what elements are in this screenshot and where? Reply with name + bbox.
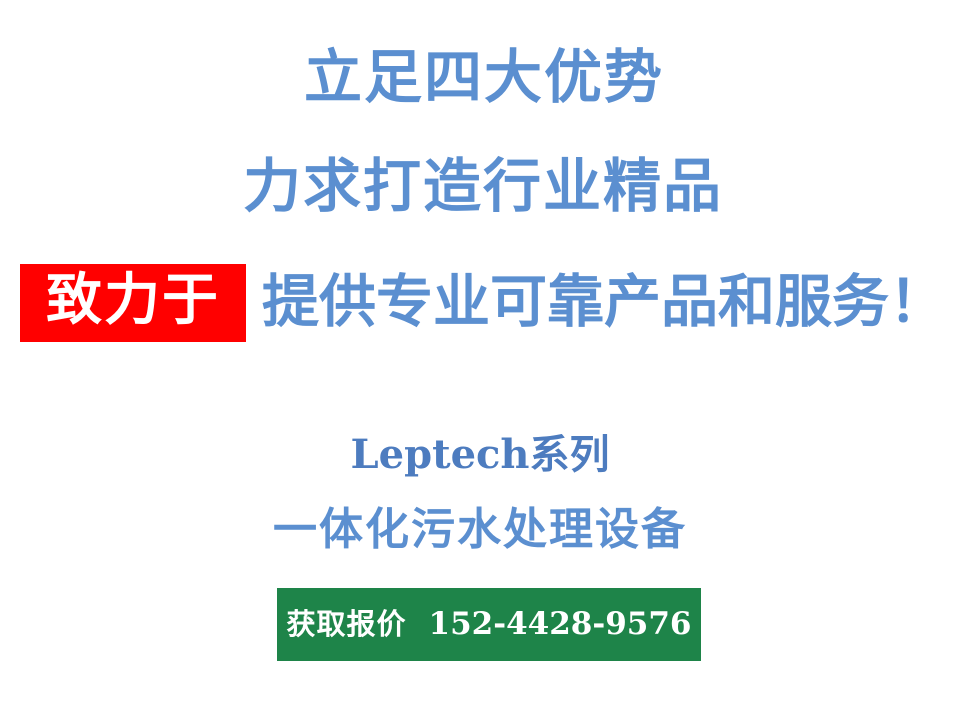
- headline-line-2: 力求打造行业精品: [0, 157, 960, 215]
- promotional-poster: 立足四大优势 力求打造行业精品 致力于 提供专业可靠产品和服务！ Leptech…: [0, 0, 960, 720]
- headline-line-1: 立足四大优势: [0, 48, 960, 106]
- product-name-title: 一体化污水处理设备: [0, 508, 960, 552]
- contact-phone-number[interactable]: 152-4428-9576: [429, 609, 692, 640]
- headline-line-3-text: 提供专业可靠产品和服务！: [262, 274, 946, 331]
- headline-line-3-row: 致力于 提供专业可靠产品和服务！: [0, 255, 960, 350]
- emphasis-tag-badge: 致力于: [20, 264, 246, 342]
- get-quote-button[interactable]: 获取报价 152-4428-9576: [277, 588, 701, 661]
- product-series-title: Leptech系列: [0, 435, 960, 475]
- get-quote-label: 获取报价: [286, 610, 406, 639]
